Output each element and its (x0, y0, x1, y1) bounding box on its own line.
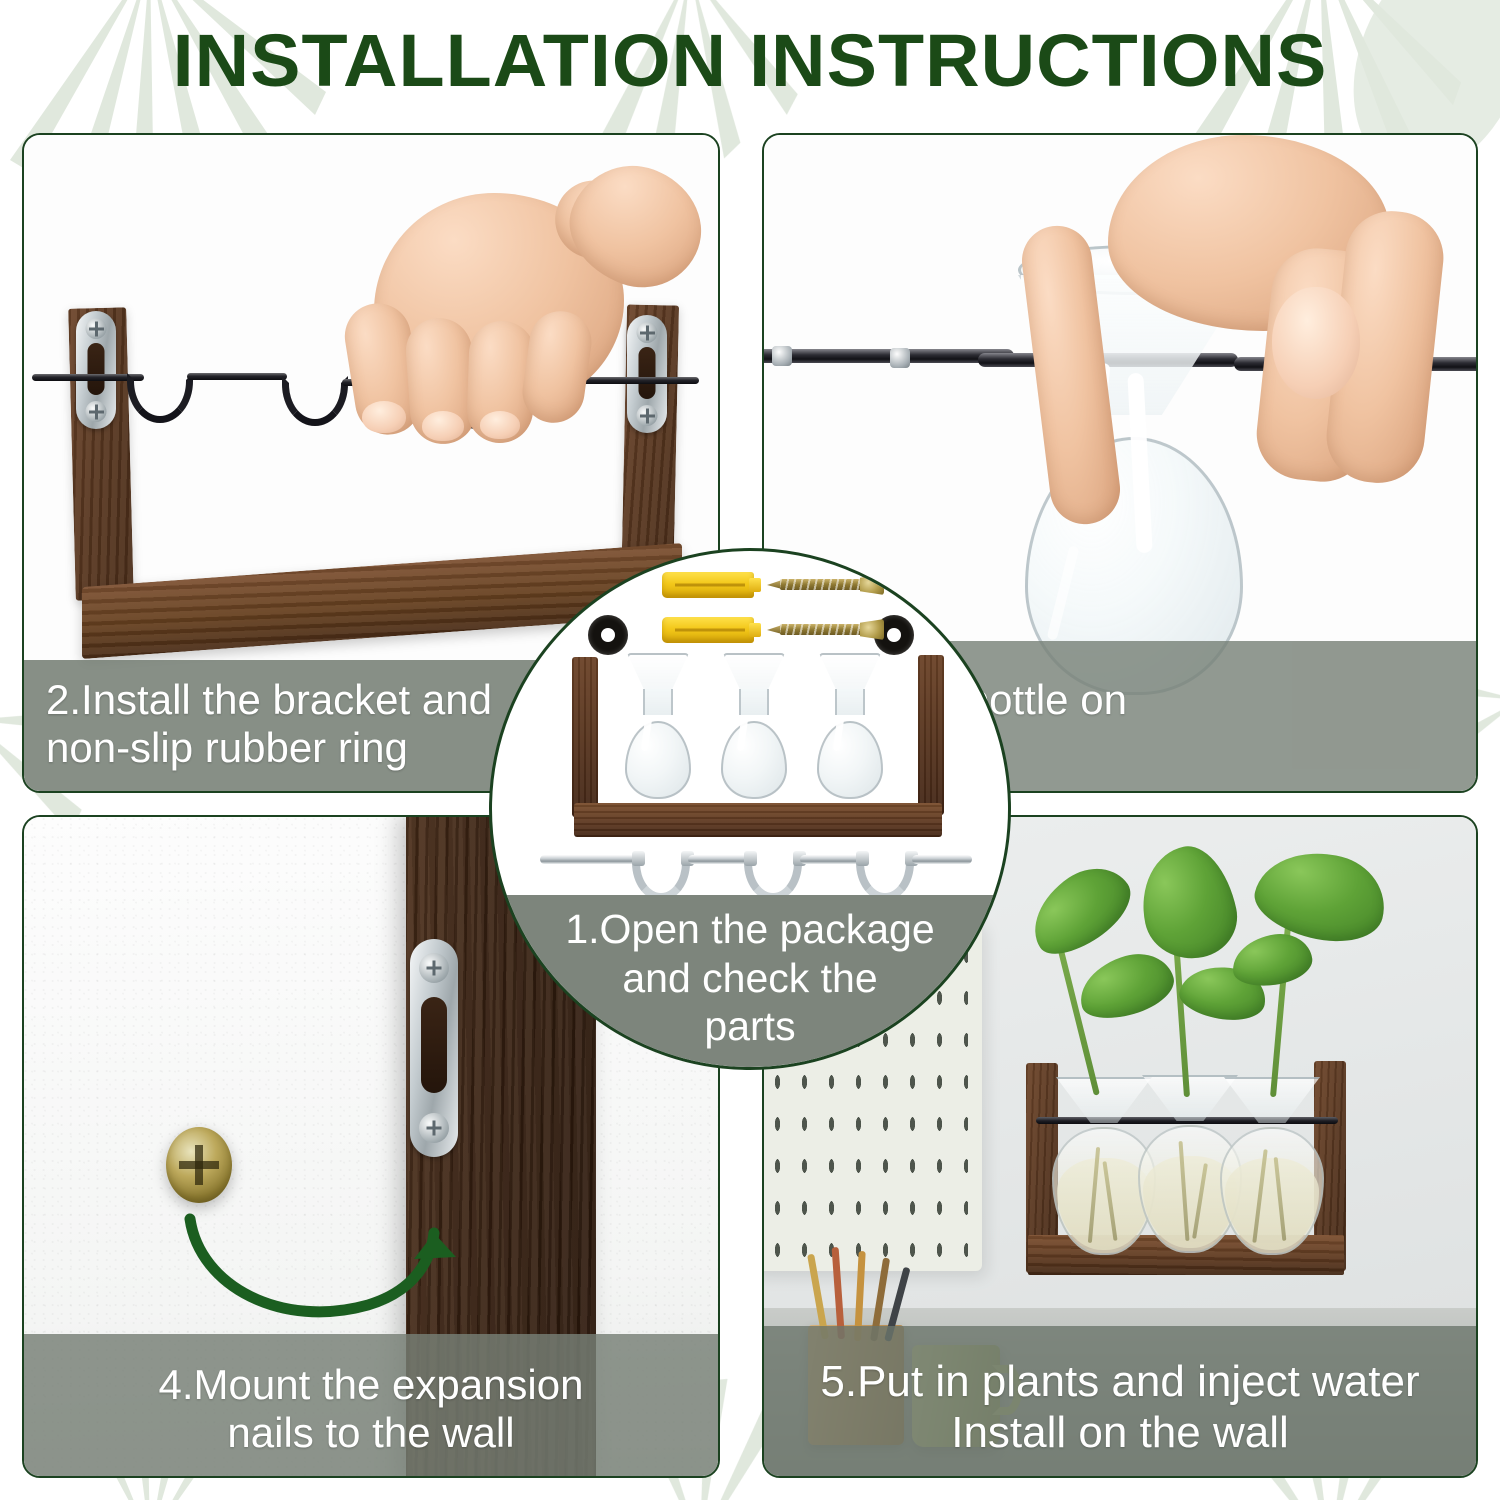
hook-cap-1a (632, 851, 645, 866)
hand-holding-rod (322, 153, 702, 473)
rod-ferrule-2 (890, 348, 910, 368)
hook-cap-3a (856, 851, 869, 866)
rod-segment-1 (540, 855, 642, 864)
wall-anchor-bottom (662, 617, 754, 643)
propagation-station (1020, 1053, 1350, 1281)
screw-bottom (780, 622, 884, 637)
caption-step-1: 1.Open the package and check the parts (492, 895, 1008, 1067)
page-title: INSTALLATION INSTRUCTIONS (0, 18, 1500, 103)
rod-ferrule-1 (772, 346, 792, 366)
frame-post-left (572, 657, 598, 817)
keyhole-mounting-plate (410, 939, 458, 1157)
keyhole-mounting-plate-left (76, 311, 116, 429)
guidance-arrow-icon (172, 1137, 472, 1357)
hand-holding-bottle (1000, 135, 1470, 559)
parts-overview-circle: 1.Open the package and check the parts (489, 548, 1011, 1070)
vase-3 (1220, 1077, 1324, 1255)
rubber-ring-left (588, 615, 628, 655)
bulb-vase-1 (620, 653, 696, 799)
frame-base (574, 803, 942, 837)
rod-segment-4 (912, 855, 972, 864)
black-rod-segment-mid-1 (187, 373, 287, 380)
frame-post-right (918, 655, 944, 815)
hook-cap-2a (744, 851, 757, 866)
screw-top (780, 577, 884, 592)
bulb-vase-2 (716, 653, 792, 799)
caption-step-4: 4.Mount the expansion nails to the wall (24, 1345, 718, 1476)
bulb-vase-3 (812, 653, 888, 799)
caption-step-5: 5.Put in plants and inject water Install… (764, 1340, 1476, 1476)
infographic-page: INSTALLATION INSTRUCTIONS (0, 0, 1500, 1500)
wall-anchor-top (662, 572, 754, 598)
metal-rod-left (764, 349, 1014, 363)
